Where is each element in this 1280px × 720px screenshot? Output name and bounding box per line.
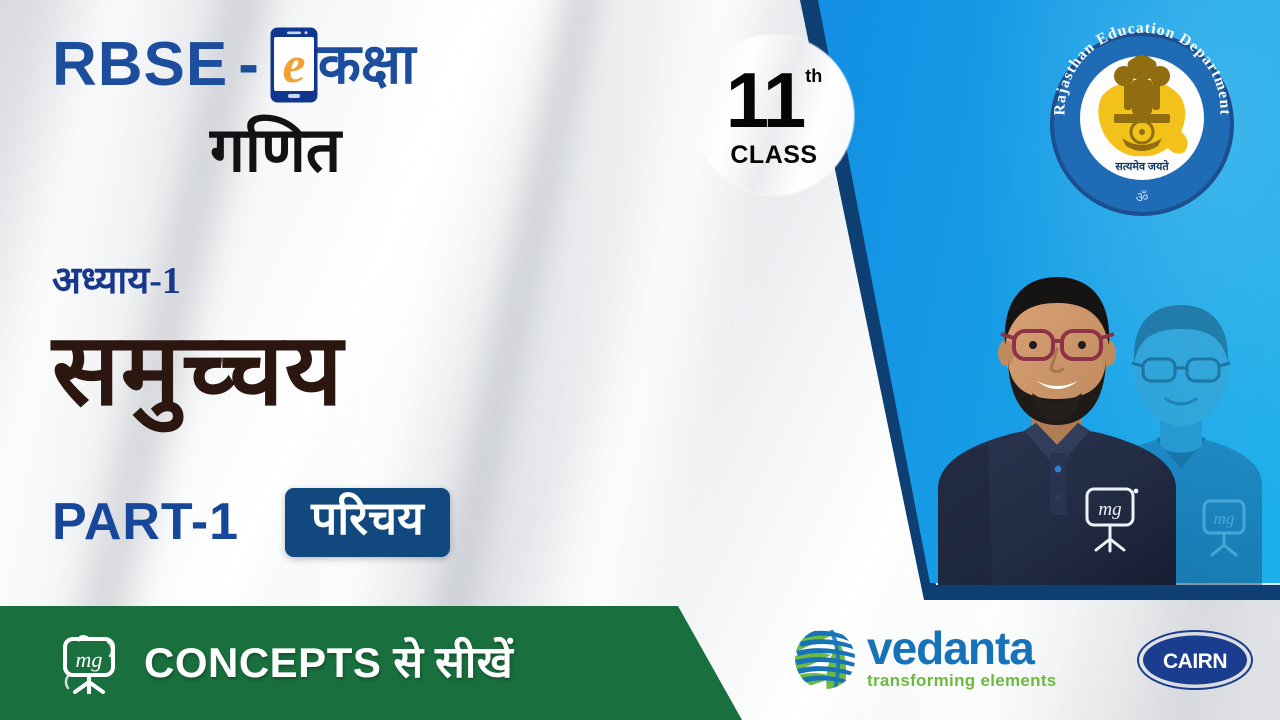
cairn-logo: CAIRN: [1136, 629, 1254, 691]
subject-title: गणित: [210, 120, 630, 182]
vedanta-wordmark: vedanta: [867, 627, 1057, 671]
tagline-en: CONCEPTS: [144, 642, 381, 684]
presenters-group: mg: [900, 225, 1280, 585]
vedanta-logo: vedanta transforming elements: [793, 618, 1123, 700]
topic-badge: परिचय: [285, 488, 450, 557]
mg-easel-icon: mg: [58, 632, 120, 694]
rajasthan-education-department-logo: Rajasthan Education Department: [1040, 18, 1245, 223]
class-ordinal: th: [805, 67, 822, 85]
svg-text:mg: mg: [76, 647, 103, 672]
chapter-label: अध्याय-1: [52, 262, 181, 300]
vedanta-globe-icon: [793, 627, 857, 691]
footer-banner: mg CONCEPTS से सीखें: [0, 606, 742, 720]
dept-motto: सत्यमेव जयते: [1114, 159, 1169, 173]
svg-text:mg: mg: [1214, 509, 1235, 528]
class-word: CLASS: [730, 141, 817, 170]
slide-canvas: mg: [0, 0, 1280, 720]
footer-tagline: CONCEPTS से सीखें: [144, 641, 513, 685]
smartphone-icon: e: [269, 26, 319, 104]
tagline-hi: से सीखें: [393, 641, 513, 685]
platform-name: कक्षा: [318, 37, 416, 93]
chapter-title: समुच्चय: [52, 318, 344, 423]
part-label: PART-1: [52, 496, 239, 548]
brand-dash: -: [238, 34, 259, 96]
vedanta-wordmark-group: vedanta transforming elements: [867, 627, 1057, 692]
svg-text:mg: mg: [1098, 499, 1121, 520]
vedanta-tagline: transforming elements: [867, 671, 1057, 691]
cairn-wordmark: CAIRN: [1163, 650, 1227, 673]
board-name: RBSE: [52, 34, 228, 96]
instructor-foreground-photo: mg: [932, 253, 1182, 585]
brand-row: RBSE - e कक्षा: [52, 22, 672, 108]
svg-text:e: e: [282, 37, 305, 94]
class-badge: 11 th CLASS: [694, 35, 854, 195]
part-row: PART-1 परिचय: [52, 488, 450, 557]
svg-text:ॐ: ॐ: [1136, 190, 1149, 206]
class-number: 11: [726, 61, 804, 139]
